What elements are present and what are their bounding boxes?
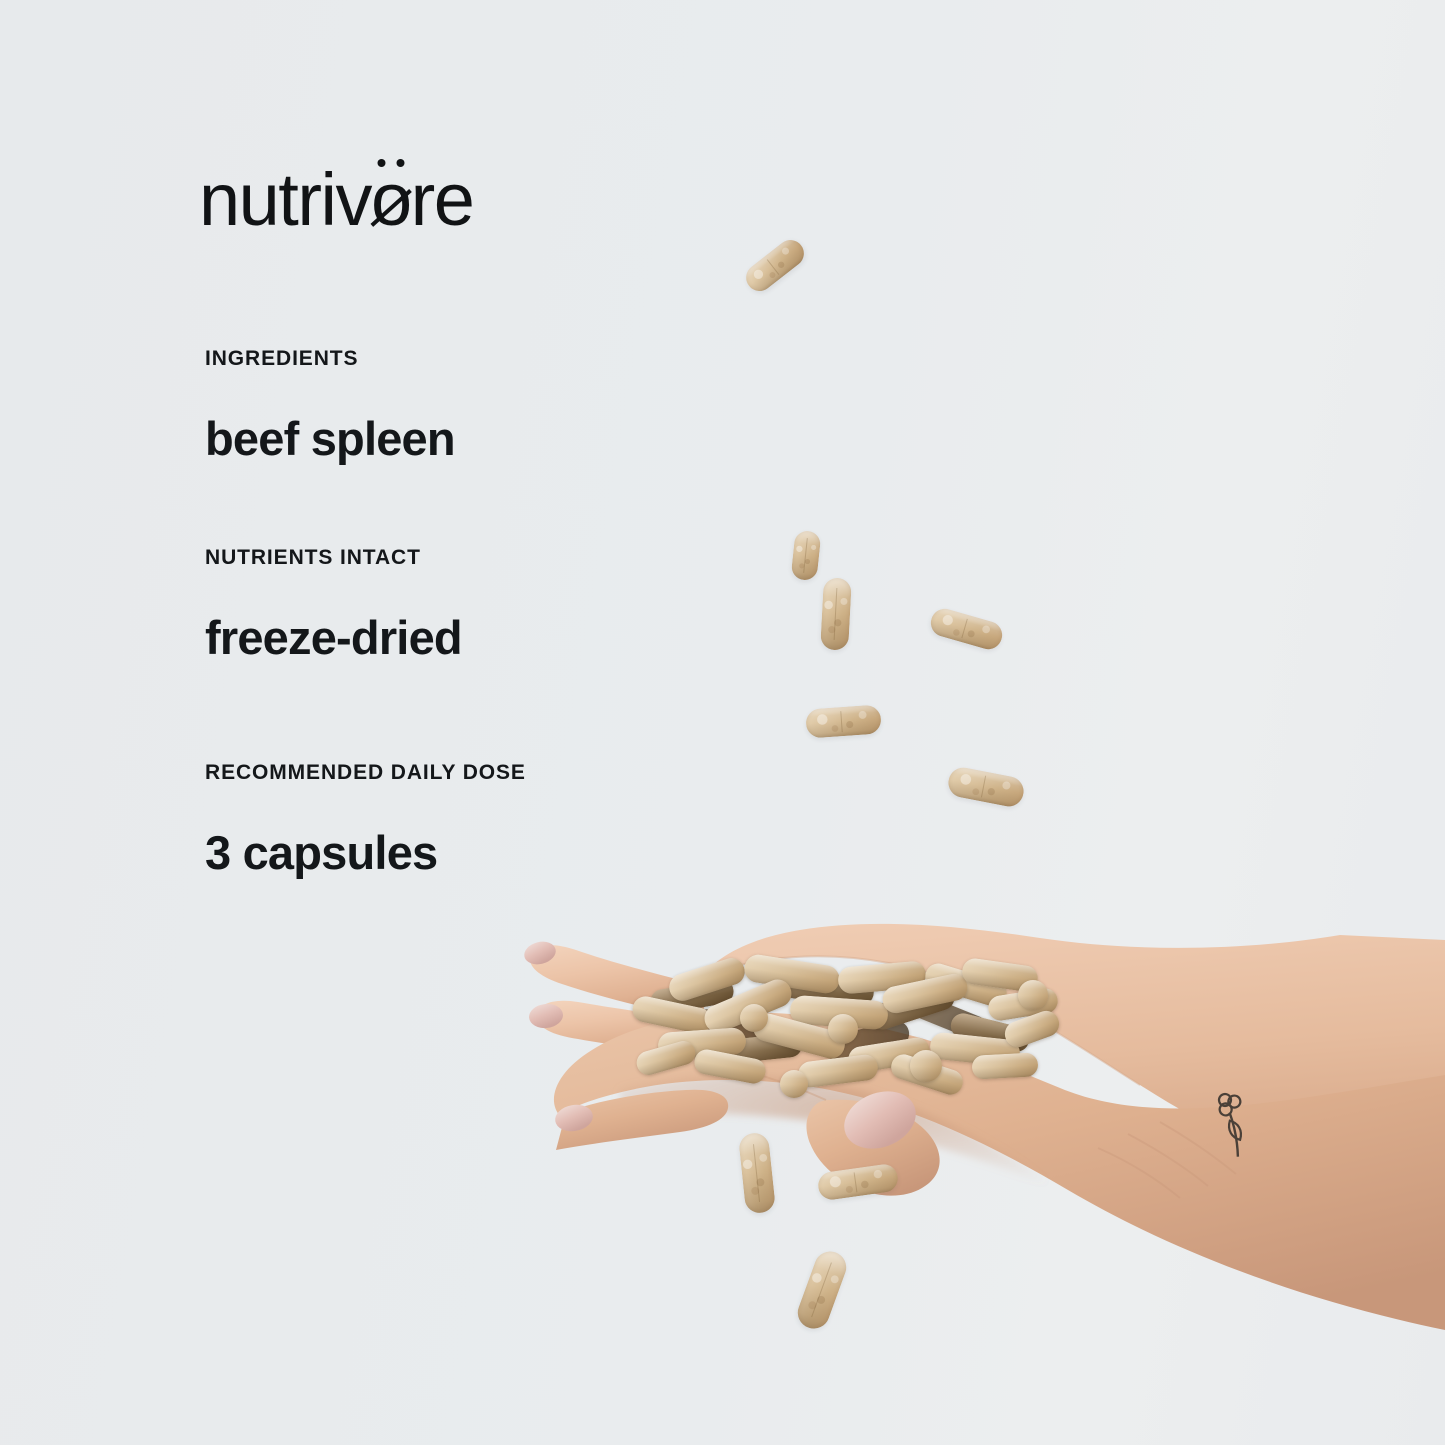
spec-dose-value: 3 capsules: [205, 829, 526, 876]
spec-ingredients-label: INGREDIENTS: [205, 347, 455, 371]
brand-slashed-o-icon: o: [371, 163, 411, 237]
fingernail: [528, 1002, 564, 1029]
falling-capsule: [791, 530, 822, 581]
spec-ingredients-value: beef spleen: [205, 415, 455, 462]
falling-capsule: [928, 605, 1006, 652]
fingernail: [553, 1102, 595, 1134]
thumbnail: [836, 1081, 925, 1159]
spec-nutrients-label: NUTRIENTS INTACT: [205, 546, 462, 570]
falling-capsule: [793, 1247, 850, 1333]
upper-hand: [700, 924, 1445, 1210]
product-info-graphic: nutrivore INGREDIENTS beef spleen NUTRIE…: [0, 0, 1445, 1445]
falling-capsule: [946, 765, 1026, 809]
escaping-capsule: [738, 1132, 776, 1215]
spec-nutrients-intact: NUTRIENTS INTACT freeze-dried: [205, 546, 462, 661]
spec-daily-dose: RECOMMENDED DAILY DOSE 3 capsules: [205, 761, 526, 876]
spec-nutrients-value: freeze-dried: [205, 614, 462, 661]
flower-tattoo-icon: [1199, 1089, 1263, 1156]
fingernail: [522, 938, 558, 967]
brand-name-part-1: nutriv: [199, 158, 371, 241]
falling-capsule: [820, 577, 852, 650]
spec-dose-label: RECOMMENDED DAILY DOSE: [205, 761, 526, 785]
falling-capsule: [805, 704, 882, 738]
brand-o-glyph: o: [371, 158, 411, 241]
escaping-capsule: [816, 1163, 899, 1202]
upper-hand-fingers: [522, 938, 722, 1056]
falling-capsule: [741, 235, 810, 297]
brand-logo: nutrivore: [199, 163, 473, 237]
lower-hand: [553, 1013, 1445, 1331]
capsule-pile: [632, 958, 1062, 1093]
spec-ingredients: INGREDIENTS beef spleen: [205, 347, 455, 462]
brand-name-part-2: re: [411, 158, 474, 241]
